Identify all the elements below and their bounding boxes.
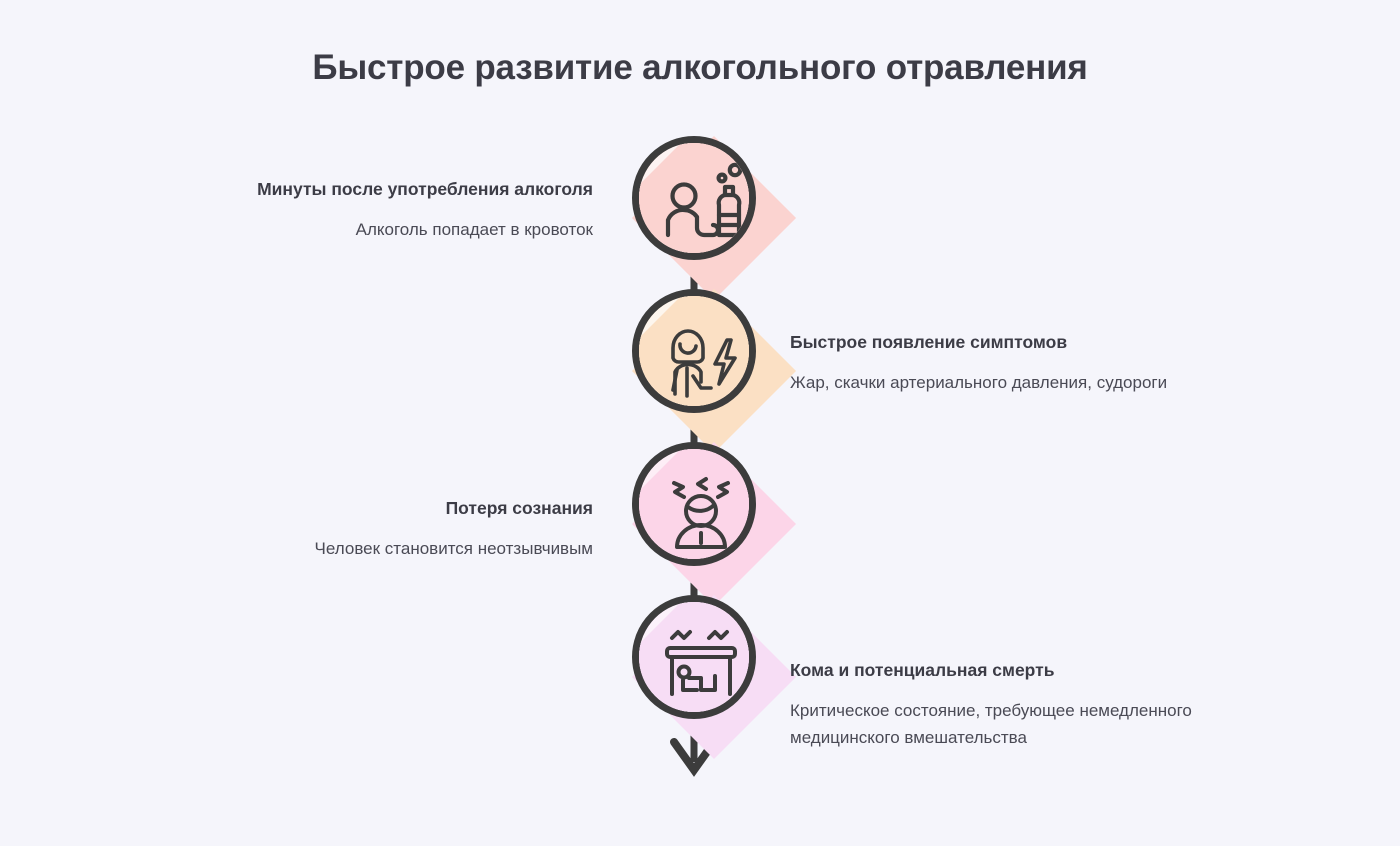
step-4-description: Критическое состояние, требующее немедле…	[790, 697, 1220, 751]
step-4-node[interactable]	[632, 595, 756, 719]
step-3-heading: Потеря сознания	[163, 495, 593, 521]
person-with-lightning-icon	[639, 296, 756, 413]
step-3-node[interactable]	[632, 442, 756, 566]
step-2-text-block: Быстрое появление симптомов Жар, скачки …	[790, 329, 1220, 396]
step-1-circle	[632, 136, 756, 260]
step-2-heading: Быстрое появление симптомов	[790, 329, 1220, 355]
dizzy-head-icon	[639, 449, 756, 566]
person-with-bottle-icon	[639, 143, 756, 260]
step-4-text-block: Кома и потенциальная смерть Критическое …	[790, 657, 1220, 751]
step-4-heading: Кома и потенциальная смерть	[790, 657, 1220, 683]
infographic-canvas: Быстрое развитие алкогольного отравления	[0, 0, 1400, 846]
step-3-description: Человек становится неотзывчивым	[163, 535, 593, 562]
step-3-circle	[632, 442, 756, 566]
step-1-description: Алкоголь попадает в кровоток	[163, 216, 593, 243]
step-2-node[interactable]	[632, 289, 756, 413]
step-1-heading: Минуты после употребления алкоголя	[163, 176, 593, 202]
step-1-node[interactable]	[632, 136, 756, 260]
person-collapsed-under-table-icon	[639, 602, 756, 719]
step-3-text-block: Потеря сознания Человек становится неотз…	[163, 495, 593, 562]
step-2-circle	[632, 289, 756, 413]
step-4-circle	[632, 595, 756, 719]
step-1-text-block: Минуты после употребления алкоголя Алког…	[163, 176, 593, 243]
page-title: Быстрое развитие алкогольного отравления	[0, 48, 1400, 88]
step-2-description: Жар, скачки артериального давления, судо…	[790, 369, 1220, 396]
